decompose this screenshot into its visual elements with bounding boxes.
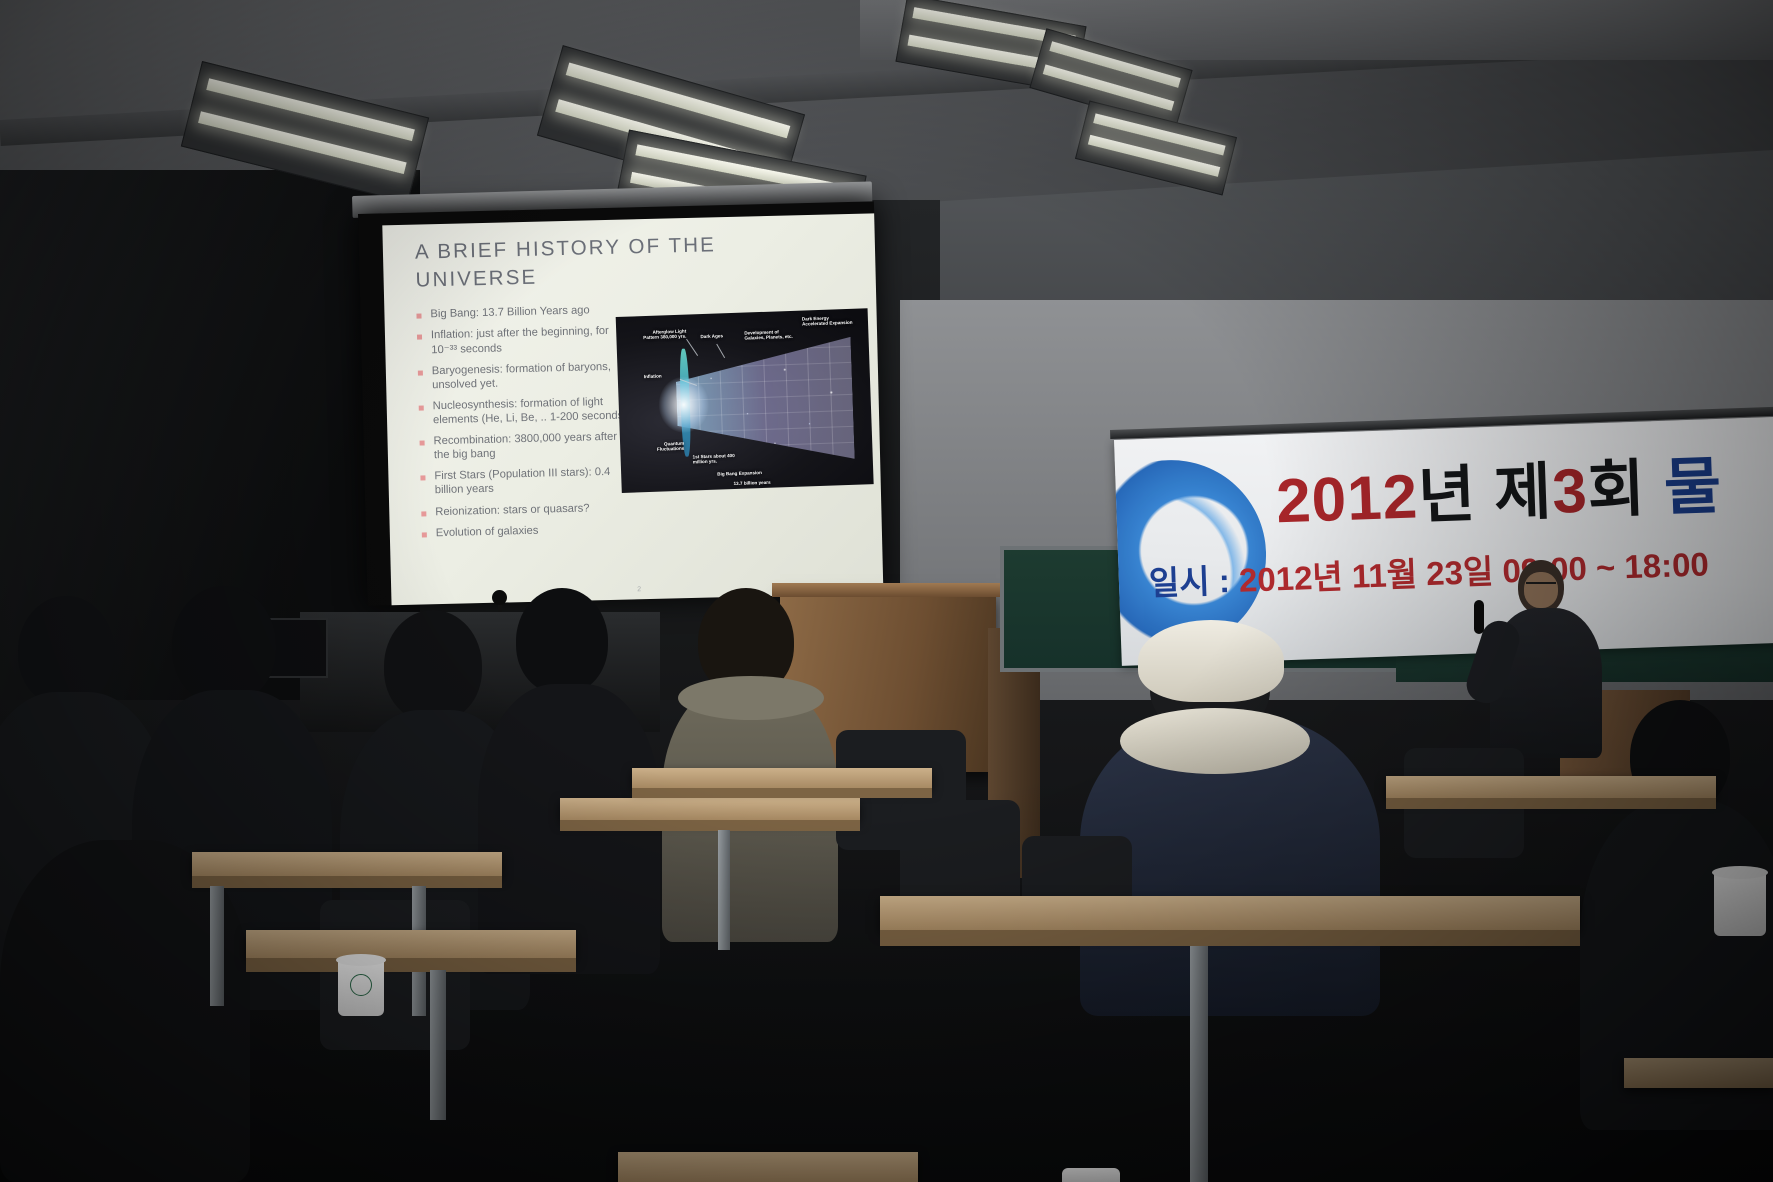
list-item: Nucleosynthesis: formation of light elem… xyxy=(419,394,636,427)
diagram-label-timespan: 13.7 billion years xyxy=(733,480,770,487)
lectern-top xyxy=(772,583,1004,597)
universe-timeline-diagram: Afterglow Light Pattern 380,000 yrs. Dar… xyxy=(616,308,874,493)
bullet-marker-icon xyxy=(419,405,424,410)
hood-collar xyxy=(678,676,824,720)
bullet-text: First Stars (Population III stars): 0.4 … xyxy=(434,465,637,498)
bullet-marker-icon xyxy=(418,370,423,375)
bullet-text: Nucleosynthesis: formation of light elem… xyxy=(433,394,636,427)
paper-cup-logo-icon xyxy=(350,974,372,996)
desk-leg xyxy=(210,886,224,1006)
desk-edge xyxy=(246,958,576,972)
desk-edge xyxy=(192,876,502,888)
diagram-label-afterglow: Afterglow Light Pattern 380,000 yrs. xyxy=(640,329,686,341)
banner-je: 제 xyxy=(1493,458,1553,529)
desk-foreground-right xyxy=(880,896,1580,930)
bullet-marker-icon xyxy=(416,314,421,319)
diagram-label-quantum: Quantum Fluctuations xyxy=(642,441,684,453)
leader-line xyxy=(716,344,725,358)
bullet-marker-icon xyxy=(417,335,422,340)
head xyxy=(516,588,608,694)
list-item: Baryogenesis: formation of baryons, unso… xyxy=(418,359,635,392)
bullet-marker-icon xyxy=(420,441,425,446)
speaker-glasses-icon xyxy=(1526,582,1556,590)
slide-page-number: 2 xyxy=(637,586,641,593)
speaker-face xyxy=(1524,572,1558,608)
paper-cup-rim xyxy=(1712,866,1768,879)
slide-title: A Brief History of the Universe xyxy=(415,228,860,294)
desk-row1-center xyxy=(560,798,860,820)
bullet-text: Inflation: just after the beginning, for… xyxy=(431,324,634,357)
bullet-text: Evolution of galaxies xyxy=(436,523,539,540)
desk-row1-left xyxy=(192,852,502,876)
desk-foreground-far-right xyxy=(1624,1058,1773,1088)
microphone-head-left xyxy=(492,590,507,605)
list-item: Recombination: 3800,000 years after the … xyxy=(419,429,636,462)
desk-row2-right xyxy=(1386,776,1716,798)
slide-bullet-list: Big Bang: 13.7 Billion Years ago Inflati… xyxy=(416,303,638,541)
banner-date: 2012년 11월 23일 xyxy=(1238,553,1494,599)
list-item: First Stars (Population III stars): 0.4 … xyxy=(420,465,637,498)
fur-collar xyxy=(1120,708,1310,774)
banner-datetime-prefix: 일시 : xyxy=(1148,562,1239,602)
desk-edge xyxy=(560,820,860,831)
paper-cup-rim xyxy=(336,954,386,966)
presentation-slide: A Brief History of the Universe Big Bang… xyxy=(382,213,883,605)
head xyxy=(384,610,482,722)
head xyxy=(172,586,276,704)
bullet-text: Baryogenesis: formation of baryons, unso… xyxy=(432,359,635,392)
bullet-text: Reionization: stars or quasars? xyxy=(435,501,590,519)
desk-row2-center xyxy=(632,768,932,788)
desk-foreground-left xyxy=(246,930,576,958)
head xyxy=(18,596,114,706)
handheld-microphone xyxy=(1474,600,1484,634)
desk-leg xyxy=(718,830,730,950)
desk-leg xyxy=(430,970,446,1120)
paper-cup-3[interactable] xyxy=(1062,1168,1120,1182)
list-item: Reionization: stars or quasars? xyxy=(421,500,637,519)
bullet-marker-icon xyxy=(422,532,427,537)
bullet-marker-icon xyxy=(421,511,426,516)
chair-back[interactable] xyxy=(900,800,1020,910)
banner-year: 2012 xyxy=(1275,462,1419,536)
desk-edge xyxy=(880,930,1580,946)
desk-leg xyxy=(1190,946,1208,1182)
diagram-label-expansion: Big Bang Expansion xyxy=(717,470,762,477)
paper-cup-2[interactable] xyxy=(1714,872,1766,936)
desk-foreground-bottom xyxy=(618,1152,918,1182)
diagram-label-first-stars: 1st Stars about 400 million yrs. xyxy=(693,453,737,465)
bullet-text: Big Bang: 13.7 Billion Years ago xyxy=(430,304,590,322)
banner-nyeon: 년 xyxy=(1417,460,1496,532)
list-item: Evolution of galaxies xyxy=(422,521,638,540)
diagram-label-dark-ages: Dark Ages xyxy=(700,333,723,339)
bullet-text: Recombination: 3800,000 years after the … xyxy=(433,429,636,462)
desk-edge xyxy=(632,788,932,798)
banner-edition-number: 3 xyxy=(1551,457,1589,527)
fur-hat xyxy=(1138,620,1284,702)
classroom-photo: A Brief History of the Universe Big Bang… xyxy=(0,0,1773,1182)
diagram-label-development: Development of Galaxies, Planets, etc. xyxy=(744,329,794,342)
projection-screen-frame: A Brief History of the Universe Big Bang… xyxy=(358,201,883,605)
banner-title-line: 2012년 제3회 물 xyxy=(1274,435,1723,541)
bullet-marker-icon xyxy=(420,476,425,481)
desk-edge xyxy=(1386,798,1716,809)
list-item: Inflation: just after the beginning, for… xyxy=(417,324,634,357)
leader-line xyxy=(686,339,698,356)
projection-screen: A Brief History of the Universe Big Bang… xyxy=(382,213,883,605)
diagram-label-dark-energy: Dark Energy Accelerated Expansion xyxy=(802,315,854,328)
diagram-label-inflation: Inflation xyxy=(644,373,662,379)
list-item: Big Bang: 13.7 Billion Years ago xyxy=(416,303,632,322)
banner-hoe: 회 xyxy=(1587,454,1666,526)
banner-subject: 물 xyxy=(1663,452,1723,523)
